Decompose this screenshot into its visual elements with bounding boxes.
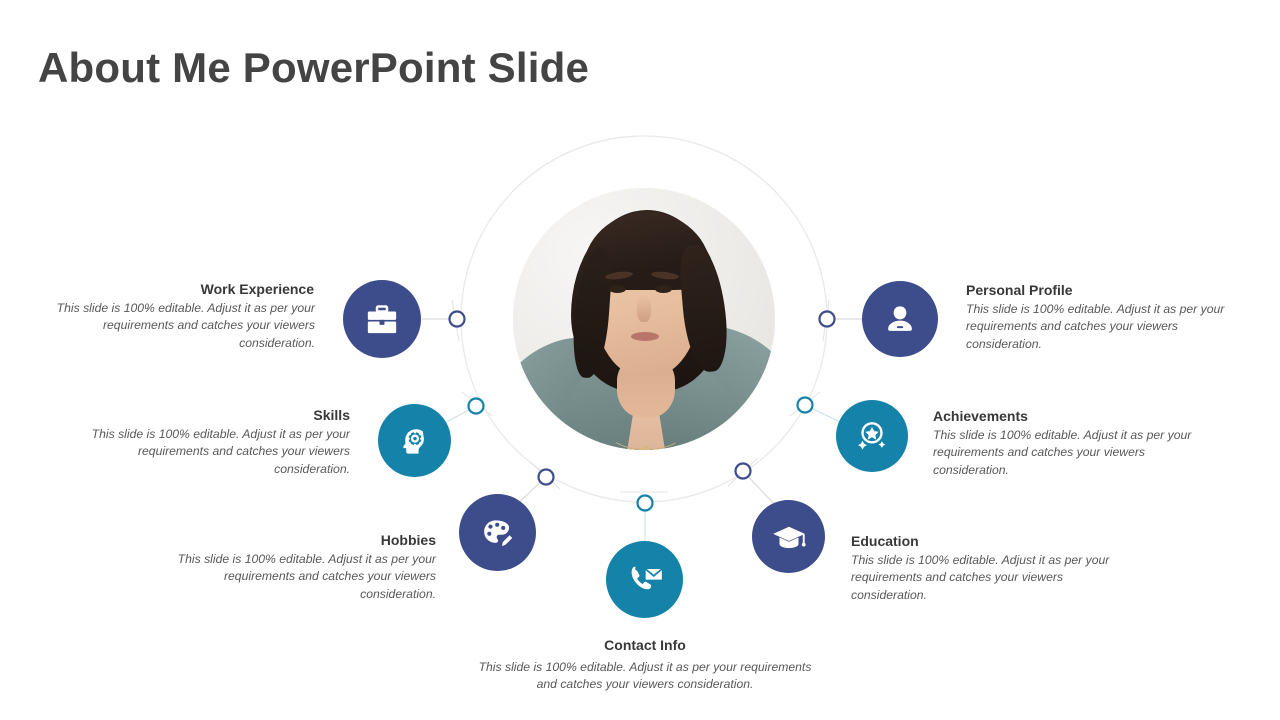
- node-achievements[interactable]: [836, 400, 908, 472]
- photo-pendant: [641, 446, 651, 450]
- about-me-diagram: Work Experience This slide is 100% edita…: [0, 0, 1280, 720]
- user-profile-icon: [881, 300, 919, 338]
- graduation-cap-icon: [770, 518, 808, 556]
- photo-nose: [637, 296, 651, 322]
- desc-contact-info: This slide is 100% editable. Adjust it a…: [470, 659, 820, 694]
- label-education: Education: [851, 533, 1071, 549]
- photo-necklace: [609, 416, 683, 450]
- profile-photo: [513, 188, 775, 450]
- label-hobbies: Hobbies: [240, 532, 436, 548]
- node-skills[interactable]: [378, 404, 451, 477]
- marker-hobbies: [539, 470, 554, 485]
- label-achievements: Achievements: [933, 408, 1163, 424]
- label-contact-info: Contact Info: [500, 637, 790, 653]
- photo-mouth: [631, 332, 659, 341]
- paint-palette-icon: [479, 514, 517, 552]
- photo-eye-right: [655, 285, 672, 293]
- desc-hobbies: This slide is 100% editable. Adjust it a…: [164, 551, 436, 603]
- head-gear-icon: [396, 422, 434, 460]
- marker-work-experience: [450, 312, 465, 327]
- phone-envelope-icon: [625, 560, 665, 600]
- node-contact-info[interactable]: [606, 541, 683, 618]
- marker-contact-info: [638, 496, 653, 511]
- node-hobbies[interactable]: [459, 494, 536, 571]
- label-skills: Skills: [160, 407, 350, 423]
- photo-eye-left: [609, 285, 626, 293]
- marker-achievements: [798, 398, 813, 413]
- desc-achievements: This slide is 100% editable. Adjust it a…: [933, 427, 1211, 479]
- node-work-experience[interactable]: [343, 280, 421, 358]
- node-education[interactable]: [752, 500, 825, 573]
- desc-personal-profile: This slide is 100% editable. Adjust it a…: [966, 301, 1244, 353]
- briefcase-icon: [362, 299, 402, 339]
- node-personal-profile[interactable]: [862, 281, 938, 357]
- marker-personal-profile: [820, 312, 835, 327]
- desc-work-experience: This slide is 100% editable. Adjust it a…: [45, 300, 315, 352]
- label-work-experience: Work Experience: [114, 281, 314, 297]
- marker-education: [736, 464, 751, 479]
- desc-skills: This slide is 100% editable. Adjust it a…: [78, 426, 350, 478]
- award-star-icon: [853, 417, 891, 455]
- desc-education: This slide is 100% editable. Adjust it a…: [851, 552, 1129, 604]
- marker-skills: [469, 399, 484, 414]
- label-personal-profile: Personal Profile: [966, 282, 1206, 298]
